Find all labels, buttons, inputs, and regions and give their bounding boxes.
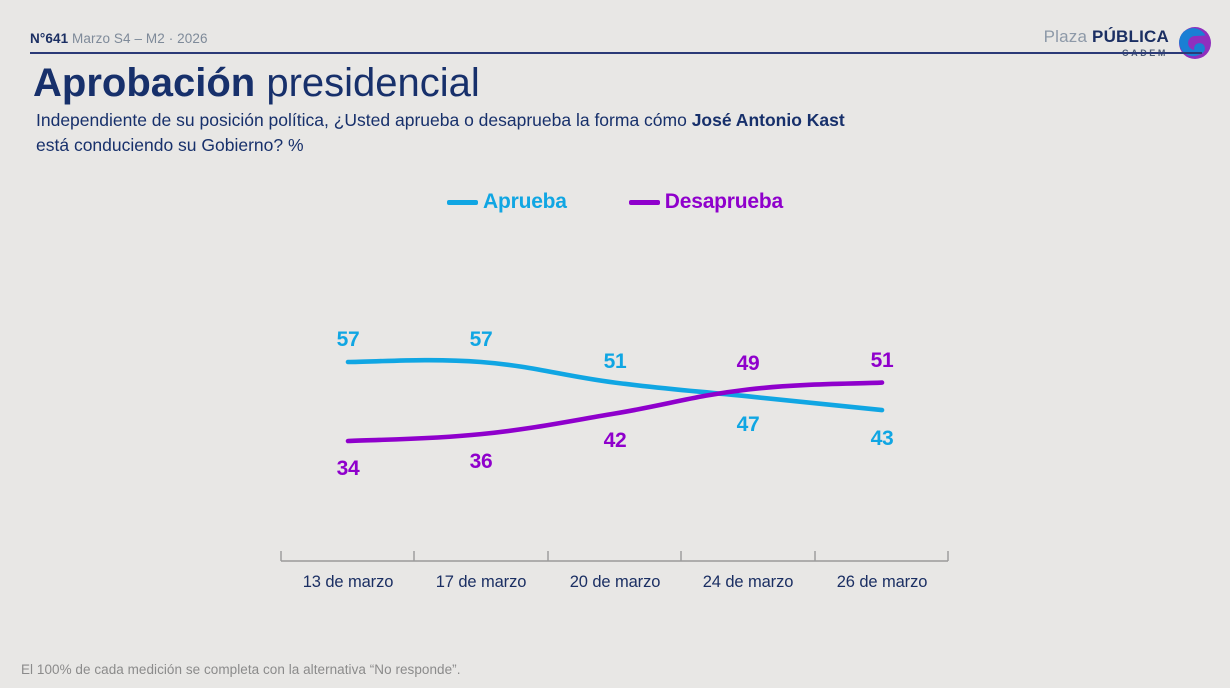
data-label-desaprueba-0: 34: [337, 457, 360, 481]
data-label-aprueba-4: 43: [871, 427, 894, 451]
data-label-aprueba-1: 57: [470, 328, 493, 352]
data-label-aprueba-0: 57: [337, 328, 360, 352]
data-label-desaprueba-4: 51: [871, 349, 894, 373]
chart-x-axis: [281, 551, 948, 561]
chart-footnote: El 100% de cada medición se completa con…: [21, 662, 461, 677]
data-label-aprueba-2: 51: [604, 350, 627, 374]
x-axis-label-2: 20 de marzo: [570, 573, 661, 592]
data-label-desaprueba-1: 36: [470, 450, 493, 474]
data-label-aprueba-3: 47: [737, 413, 760, 437]
x-axis-label-1: 17 de marzo: [436, 573, 527, 592]
x-axis-label-4: 26 de marzo: [837, 573, 928, 592]
data-label-desaprueba-3: 49: [737, 352, 760, 376]
x-axis-label-3: 24 de marzo: [703, 573, 794, 592]
x-axis-label-0: 13 de marzo: [303, 573, 394, 592]
data-label-desaprueba-2: 42: [604, 429, 627, 453]
